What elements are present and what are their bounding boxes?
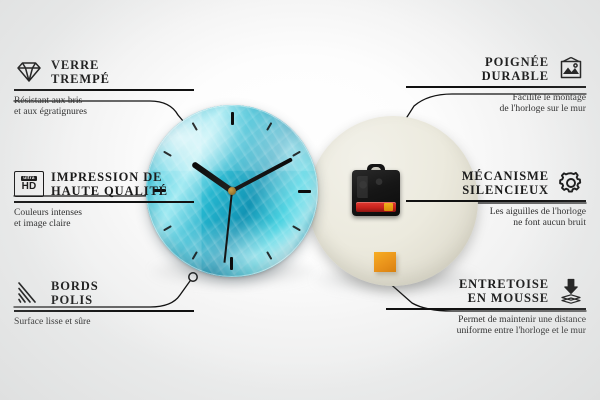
clock-center-cap xyxy=(228,187,236,195)
feature-description: Facilite le montage de l'horloge sur le … xyxy=(406,92,586,115)
feature-title: ENTRETOISE EN MOUSSE xyxy=(459,277,549,305)
gear-icon xyxy=(556,170,586,196)
feature-rule xyxy=(14,201,194,203)
feature-description: Résistant aux bris et aux égratignures xyxy=(14,95,194,118)
quartz-mechanism xyxy=(352,170,400,216)
ultra-hd-icon-main: HD xyxy=(22,182,37,192)
feature-description: Couleurs intenses et image claire xyxy=(14,207,194,230)
feature-header: BORDS POLIS xyxy=(14,279,194,307)
battery xyxy=(356,202,396,212)
clock-tick xyxy=(232,190,318,192)
infographic-canvas: VERRE TREMPÉ Résistant aux bris et aux é… xyxy=(0,0,600,400)
feature-description: Les aiguilles de l'horloge ne font aucun… xyxy=(406,206,586,229)
feature-rule xyxy=(406,200,586,202)
feature-impression-haute-qualite: ultra HD IMPRESSION DE HAUTE QUALITÉ Cou… xyxy=(14,170,194,230)
feature-rule xyxy=(386,308,586,310)
spacer-arrow-icon xyxy=(556,278,586,304)
clock-tick xyxy=(231,105,233,191)
feature-verre-trempe: VERRE TREMPÉ Résistant aux bris et aux é… xyxy=(14,58,194,118)
feature-bords-polis: BORDS POLIS Surface lisse et sûre xyxy=(14,279,194,327)
ultra-hd-icon: ultra HD xyxy=(14,171,44,197)
feature-poignee-durable: POIGNÉE DURABLE Facilite le montage de l… xyxy=(406,55,586,115)
feature-title: POIGNÉE DURABLE xyxy=(482,55,549,83)
feature-header: ENTRETOISE EN MOUSSE xyxy=(386,277,586,305)
feature-mecanisme-silencieux: MÉCANISME SILENCIEUX Les aiguilles de l'… xyxy=(406,169,586,229)
diamond-icon xyxy=(14,59,44,85)
feature-rule xyxy=(14,310,194,312)
feature-entretoise-en-mousse: ENTRETOISE EN MOUSSE Permet de maintenir… xyxy=(386,277,586,337)
feature-header: ultra HD IMPRESSION DE HAUTE QUALITÉ xyxy=(14,170,194,198)
feature-header: MÉCANISME SILENCIEUX xyxy=(406,169,586,197)
framed-picture-icon xyxy=(556,56,586,82)
feature-rule xyxy=(406,86,586,88)
polished-edges-icon xyxy=(14,280,44,306)
feature-header: VERRE TREMPÉ xyxy=(14,58,194,86)
mechanism-detail xyxy=(357,176,395,198)
feature-description: Surface lisse et sûre xyxy=(14,316,194,328)
feature-title: MÉCANISME SILENCIEUX xyxy=(462,169,549,197)
feature-title: BORDS POLIS xyxy=(51,279,99,307)
feature-header: POIGNÉE DURABLE xyxy=(406,55,586,83)
foam-spacer-pad xyxy=(374,252,396,272)
feature-title: IMPRESSION DE HAUTE QUALITÉ xyxy=(51,170,168,198)
feature-title: VERRE TREMPÉ xyxy=(51,58,110,86)
feature-rule xyxy=(14,89,194,91)
feature-description: Permet de maintenir une distance uniform… xyxy=(386,314,586,337)
